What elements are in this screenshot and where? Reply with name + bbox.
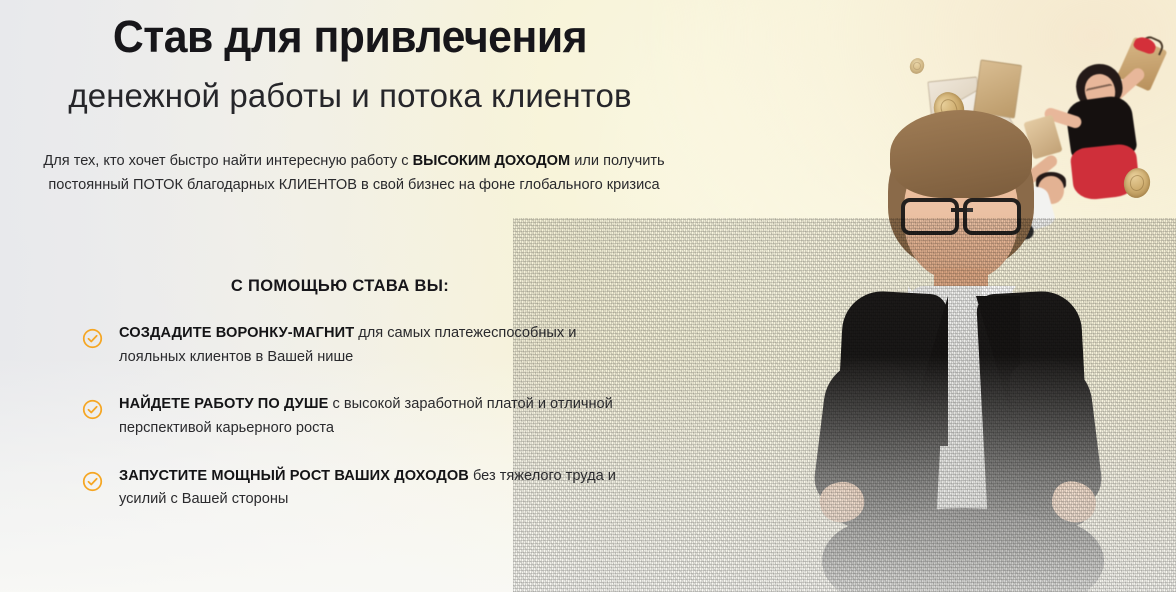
- benefits-list: СОЗДАДИТЕ ВОРОНКУ-МАГНИТ для самых плате…: [82, 322, 682, 536]
- page-subtitle: денежной работы и потока клиентов: [0, 79, 700, 114]
- page-title: Став для привлечения: [18, 14, 683, 59]
- list-item-text: ЗАПУСТИТЕ МОЩНЫЙ РОСТ ВАШИХ ДОХОДОВ без …: [119, 465, 639, 512]
- headline-block: Став для привлечения денежной работы и п…: [0, 14, 700, 114]
- section-title: С ПОМОЩЬЮ СТАВА ВЫ:: [60, 277, 620, 296]
- list-item: ЗАПУСТИТЕ МОЩНЫЙ РОСТ ВАШИХ ДОХОДОВ без …: [82, 465, 682, 512]
- list-item-text: НАЙДЕТЕ РАБОТУ ПО ДУШЕ с высокой заработ…: [119, 393, 639, 440]
- list-item: НАЙДЕТЕ РАБОТУ ПО ДУШЕ с высокой заработ…: [82, 393, 682, 440]
- list-item-emphasis: НАЙДЕТЕ РАБОТУ ПО ДУШЕ: [119, 396, 328, 412]
- check-circle-icon: [82, 328, 103, 349]
- list-item: СОЗДАДИТЕ ВОРОНКУ-МАГНИТ для самых плате…: [82, 322, 682, 369]
- check-circle-icon: [82, 471, 103, 492]
- content-layer: Став для привлечения денежной работы и п…: [0, 0, 1176, 592]
- check-circle-icon: [82, 399, 103, 420]
- lede-emphasis: ВЫСОКИМ ДОХОДОМ: [413, 153, 571, 169]
- lede-paragraph: Для тех, кто хочет быстро найти интересн…: [38, 150, 670, 197]
- lede-part-1: Для тех, кто хочет быстро найти интересн…: [43, 153, 412, 169]
- list-item-text: СОЗДАДИТЕ ВОРОНКУ-МАГНИТ для самых плате…: [119, 322, 639, 369]
- list-item-emphasis: ЗАПУСТИТЕ МОЩНЫЙ РОСТ ВАШИХ ДОХОДОВ: [119, 468, 469, 484]
- promo-banner: Став для привлечения денежной работы и п…: [0, 0, 1176, 592]
- list-item-emphasis: СОЗДАДИТЕ ВОРОНКУ-МАГНИТ: [119, 325, 354, 341]
